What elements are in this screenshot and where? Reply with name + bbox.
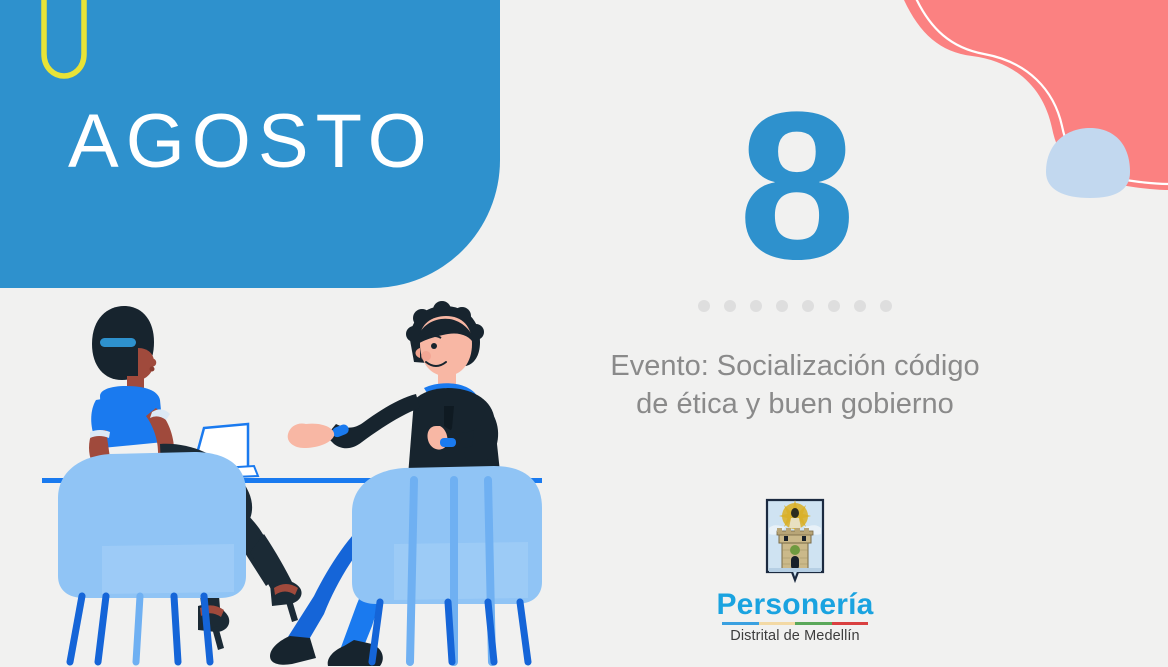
logo-subtitle: Distrital de Medellín (730, 628, 859, 644)
medellin-coat-of-arms-icon (764, 498, 826, 586)
rule-segment-green (795, 622, 832, 625)
month-label: AGOSTO (68, 104, 434, 180)
rule-segment-red (832, 622, 869, 625)
paperclip-icon (22, 0, 92, 92)
two-people-meeting-illustration (42, 296, 542, 667)
dot (854, 300, 866, 312)
event-info-column: 8 Evento: Socialización código de ética … (560, 100, 1030, 424)
personeria-logo: Personería Distrital de Medellín (690, 498, 900, 644)
separator-dots (698, 300, 892, 312)
rule-segment-cream (759, 622, 796, 625)
month-panel: AGOSTO (0, 0, 500, 288)
poster-canvas: AGOSTO 8 Evento: Socialización código de… (0, 0, 1168, 667)
dot (828, 300, 840, 312)
dot (802, 300, 814, 312)
light-blue-circle (1046, 128, 1130, 198)
armchair-right (352, 466, 542, 662)
event-title-line-1: Evento: Socialización código (610, 348, 979, 386)
logo-color-rule (722, 622, 868, 625)
dot (880, 300, 892, 312)
event-title-line-2: de ética y buen gobierno (610, 386, 979, 424)
rule-segment-blue (722, 622, 759, 625)
logo-name: Personería (716, 589, 873, 621)
day-number: 8 (739, 100, 852, 272)
event-title: Evento: Socialización código de ética y … (610, 348, 979, 423)
dot (750, 300, 762, 312)
dot (698, 300, 710, 312)
dot (724, 300, 736, 312)
dot (776, 300, 788, 312)
